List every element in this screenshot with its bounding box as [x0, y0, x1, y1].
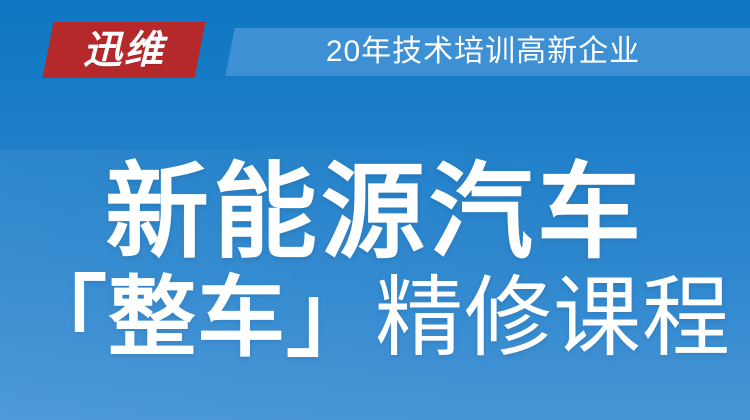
tagline-banner-label: 20年技术培训高新企业 [230, 28, 750, 76]
promo-poster: 20年技术培训高新企业 迅维 新能源汽车 「整车」精修课程 [0, 0, 750, 420]
course-title-secondary-plain: 精修课程 [375, 268, 731, 367]
poster-header: 20年技术培训高新企业 迅维 [0, 0, 750, 100]
course-title-secondary-bracketed: 「整车」 [19, 268, 375, 367]
headline-block: 新能源汽车 「整车」精修课程 [0, 160, 750, 363]
course-title-primary: 新能源汽车 [0, 160, 750, 267]
course-title-secondary: 「整车」精修课程 [0, 273, 750, 363]
brand-logo-label: 迅维 [48, 22, 200, 78]
